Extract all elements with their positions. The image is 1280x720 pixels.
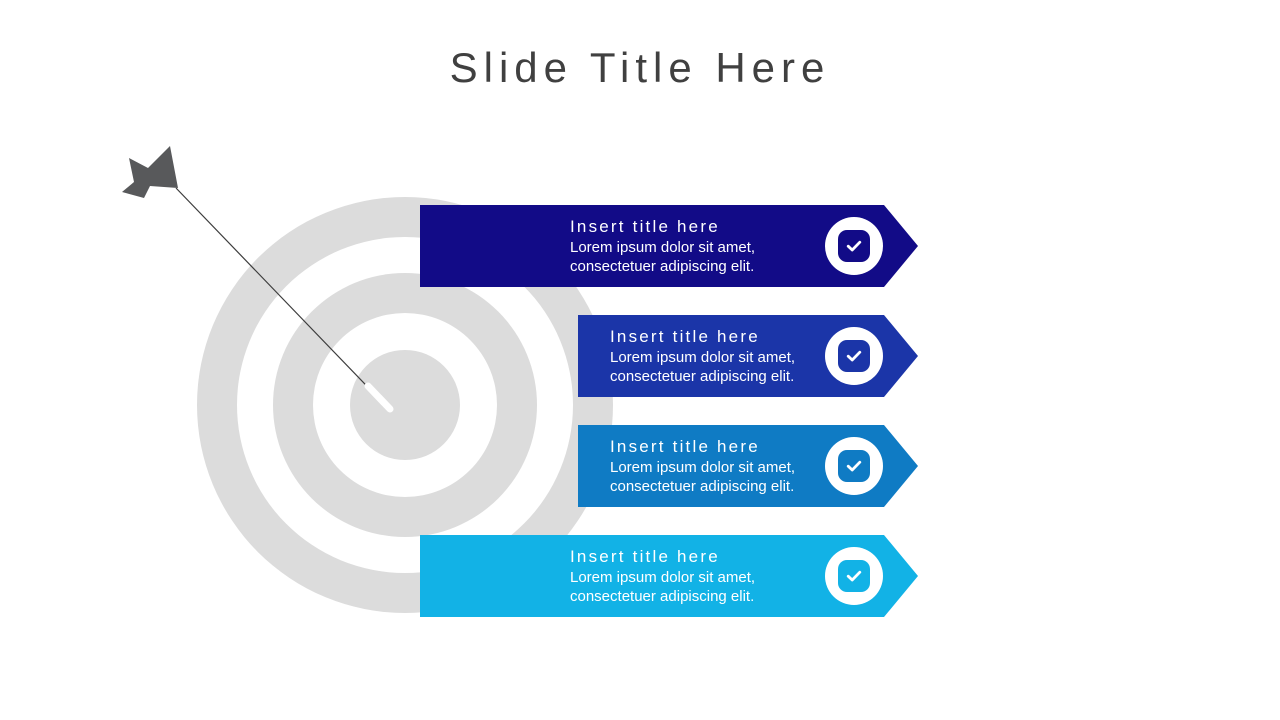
- arrow-fletching: [122, 146, 178, 198]
- banner-text-3: Insert title here Lorem ipsum dolor sit …: [610, 436, 795, 496]
- check-inner-4: [838, 560, 870, 592]
- banner-description-line2-4: consectetuer adipiscing elit.: [570, 587, 755, 606]
- slide-canvas: Slide Title Here Insert title here: [0, 0, 1280, 720]
- banner-title-3: Insert title here: [610, 436, 795, 458]
- target-bullseye-center: [350, 350, 460, 460]
- check-circle-icon-1[interactable]: [825, 217, 883, 275]
- banner-row-2[interactable]: Insert title here Lorem ipsum dolor sit …: [578, 315, 918, 397]
- check-glyph-3: [845, 457, 863, 475]
- banner-description-line1-1: Lorem ipsum dolor sit amet,: [570, 238, 755, 257]
- banner-description-line1-4: Lorem ipsum dolor sit amet,: [570, 568, 755, 587]
- arrow-fletching-guide: [126, 138, 176, 200]
- check-circle-icon-4[interactable]: [825, 547, 883, 605]
- banner-description-2: Lorem ipsum dolor sit amet,consectetuer …: [610, 348, 795, 386]
- page-title: Slide Title Here: [0, 44, 1280, 92]
- banner-title-2: Insert title here: [610, 326, 795, 348]
- banner-description-line2-3: consectetuer adipiscing elit.: [610, 477, 795, 496]
- banner-row-4[interactable]: Insert title here Lorem ipsum dolor sit …: [420, 535, 918, 617]
- banner-text-2: Insert title here Lorem ipsum dolor sit …: [610, 326, 795, 386]
- banner-description-line2-1: consectetuer adipiscing elit.: [570, 257, 755, 276]
- check-inner-3: [838, 450, 870, 482]
- check-glyph-1: [845, 237, 863, 255]
- check-circle-icon-2[interactable]: [825, 327, 883, 385]
- check-glyph-2: [845, 347, 863, 365]
- banner-title-4: Insert title here: [570, 546, 755, 568]
- check-inner-2: [838, 340, 870, 372]
- banner-description-line1-3: Lorem ipsum dolor sit amet,: [610, 458, 795, 477]
- check-glyph-4: [845, 567, 863, 585]
- check-inner-1: [838, 230, 870, 262]
- banner-description-line1-2: Lorem ipsum dolor sit amet,: [610, 348, 795, 367]
- banner-description-1: Lorem ipsum dolor sit amet,consectetuer …: [570, 238, 755, 276]
- banner-text-1: Insert title here Lorem ipsum dolor sit …: [570, 216, 755, 276]
- banner-description-4: Lorem ipsum dolor sit amet,consectetuer …: [570, 568, 755, 606]
- banner-text-4: Insert title here Lorem ipsum dolor sit …: [570, 546, 755, 606]
- banner-title-1: Insert title here: [570, 216, 755, 238]
- banner-list: Insert title here Lorem ipsum dolor sit …: [0, 0, 1280, 720]
- banner-row-3[interactable]: Insert title here Lorem ipsum dolor sit …: [578, 425, 918, 507]
- banner-row-1[interactable]: Insert title here Lorem ipsum dolor sit …: [420, 205, 918, 287]
- banner-description-3: Lorem ipsum dolor sit amet,consectetuer …: [610, 458, 795, 496]
- banner-description-line2-2: consectetuer adipiscing elit.: [610, 367, 795, 386]
- check-circle-icon-3[interactable]: [825, 437, 883, 495]
